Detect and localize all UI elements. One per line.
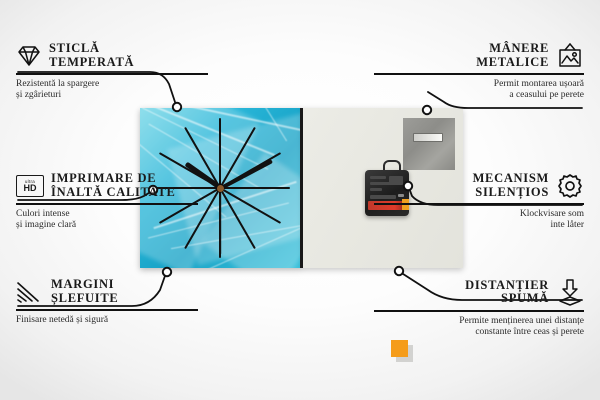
callout-sub: și imagine clară	[16, 220, 226, 232]
diamond-icon	[16, 44, 42, 68]
infographic-canvas: STICLĂ TEMPERATĂ Rezistentă la spargere …	[0, 0, 600, 400]
callout-title: STICLĂ	[49, 42, 134, 56]
callout-rule	[16, 309, 198, 311]
callout-sub: a ceasului pe perete	[374, 90, 584, 102]
callout-rule	[374, 73, 584, 75]
metal-hanger-plate	[403, 118, 455, 170]
callout-rule	[374, 310, 584, 312]
callout-sub: Permit montarea ușoară	[374, 79, 584, 91]
callout-sub: Finisare netedă și sigură	[16, 315, 226, 327]
callout-title: ÎNALTĂ CALITATE	[51, 186, 176, 200]
callout-silent-mechanism: MECANISM SILENȚIOS Klockvisare som inte …	[374, 172, 584, 232]
diagonal-lines-icon	[16, 280, 44, 304]
ultra-hd-badge-icon: ultra HD	[16, 175, 44, 197]
callout-sub: Culori intense	[16, 209, 226, 221]
callout-rule	[374, 203, 584, 205]
callout-sub: Klockvisare som	[374, 209, 584, 221]
callout-title: ȘLEFUITE	[51, 292, 118, 306]
callout-title: TEMPERATĂ	[49, 56, 134, 70]
callout-sub: inte låter	[374, 220, 584, 232]
arrow-down-onto-layers-icon	[556, 278, 584, 306]
callout-foam-spacer: DISTANȚIER SPUMĂ Permite menținerea unei…	[374, 278, 584, 339]
foam-spacer	[391, 340, 408, 357]
clock-tick	[220, 187, 290, 189]
callout-rule	[16, 73, 208, 75]
callout-rule	[16, 203, 198, 205]
callout-metal-handles: MÂNERE METALICE Permit montarea ușoară a…	[374, 42, 584, 102]
callout-title: MÂNERE	[476, 42, 549, 56]
callout-title: DISTANȚIER	[465, 279, 549, 293]
callout-print-quality: ultra HD IMPRIMARE DE ÎNALTĂ CALITATE Cu…	[16, 172, 226, 232]
callout-title: METALICE	[476, 56, 549, 70]
callout-title: IMPRIMARE DE	[51, 172, 176, 186]
callout-title: SILENȚIOS	[473, 186, 549, 200]
callout-sub: constante între ceas și perete	[374, 327, 584, 339]
callout-polished-edges: MARGINI ȘLEFUITE Finisare netedă și sigu…	[16, 278, 226, 326]
hanger-slot	[413, 133, 443, 142]
picture-frame-hanger-icon	[556, 43, 584, 69]
callout-sub: Permite menținerea unei distanțe	[374, 316, 584, 328]
callout-sub: Rezistentă la spargere	[16, 79, 226, 91]
callout-title: MARGINI	[51, 278, 118, 292]
callout-tempered-glass: STICLĂ TEMPERATĂ Rezistentă la spargere …	[16, 42, 226, 102]
connector-dot	[163, 268, 171, 276]
callout-sub: și zgârieturi	[16, 90, 226, 102]
connector-dot	[395, 267, 403, 275]
gear-icon	[556, 173, 584, 199]
callout-title: SPUMĂ	[465, 292, 549, 306]
callout-title: MECANISM	[473, 172, 549, 186]
